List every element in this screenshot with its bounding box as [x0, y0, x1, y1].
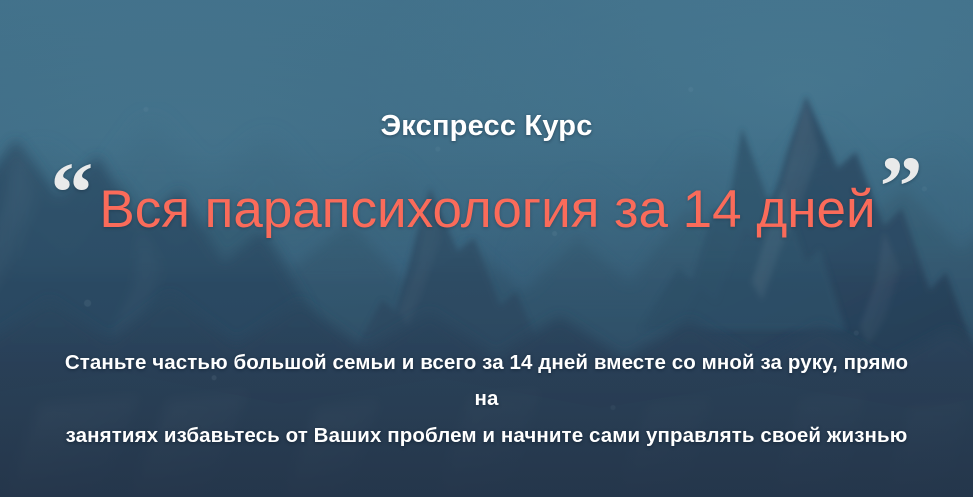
- course-eyebrow-label: Экспресс Курс: [0, 110, 973, 143]
- hero-content: Экспресс Курс “ Вся парапсихология за 14…: [0, 0, 973, 497]
- headline-row: “ Вся парапсихология за 14 дней ”: [0, 160, 973, 238]
- subcopy-line-1: Станьте частью большой семьи и всего за …: [18, 345, 955, 381]
- quote-close-icon: ”: [880, 150, 923, 222]
- hero-subcopy: Станьте частью большой семьи и всего за …: [0, 345, 973, 454]
- page-title: Вся парапсихология за 14 дней: [99, 182, 875, 238]
- subcopy-line-3: занятиях избавьтесь от Ваших проблем и н…: [18, 418, 955, 454]
- quote-open-icon: “: [50, 156, 93, 228]
- hero-banner: Экспресс Курс “ Вся парапсихология за 14…: [0, 0, 973, 497]
- subcopy-line-2: на: [18, 381, 955, 417]
